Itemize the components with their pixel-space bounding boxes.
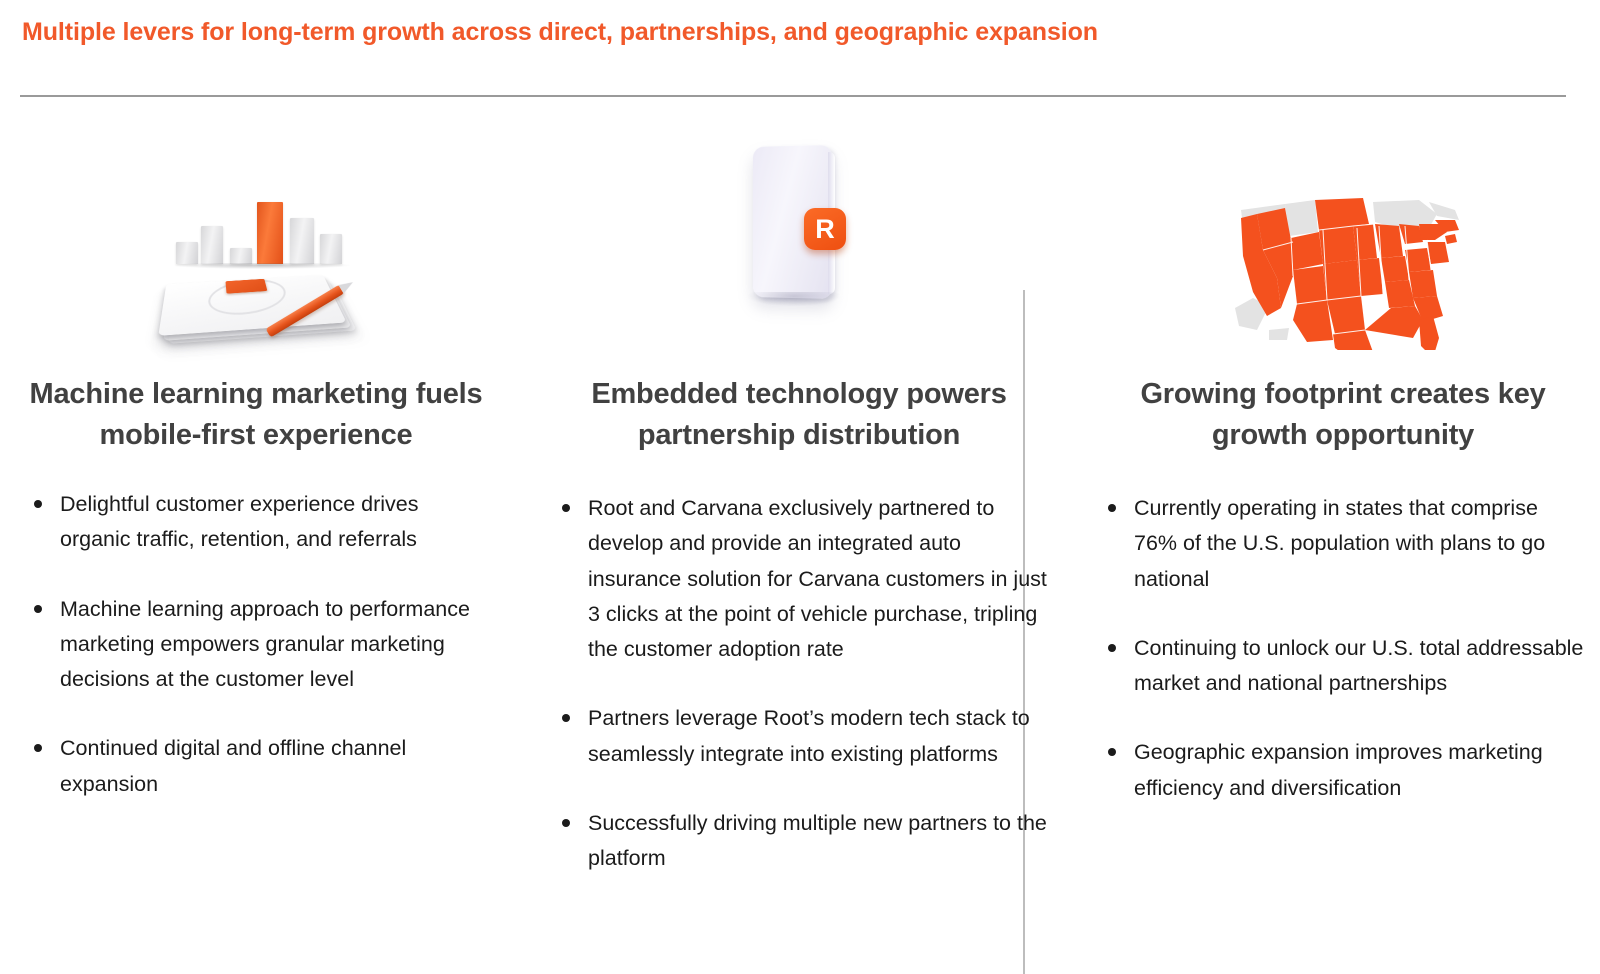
column-2-icon-area: R [512,120,1086,350]
column-machine-learning-marketing: Machine learning marketing fuels mobile-… [0,120,512,974]
column-growing-footprint: Growing footprint creates key growth opp… [1086,120,1600,974]
page-title: Multiple levers for long-term growth acr… [22,18,1098,47]
list-item: Partners leverage Root’s modern tech sta… [550,701,1060,772]
column-1-bullet-list: Delightful customer experience drives or… [0,487,512,802]
list-item: Continuing to unlock our U.S. total addr… [1096,631,1586,702]
column-2-bullet-list: Root and Carvana exclusively partnered t… [512,491,1086,876]
list-item: Continued digital and offline channel ex… [22,731,486,802]
chart-bar-2 [201,226,223,264]
column-3-icon-area [1086,120,1600,350]
slide-root: Multiple levers for long-term growth acr… [0,0,1600,974]
column-3-heading: Growing footprint creates key growth opp… [1086,374,1600,455]
chart-bar-3 [230,248,252,264]
us-map-icon [1223,180,1463,350]
column-embedded-technology: R Embedded technology powers partnership… [512,120,1086,974]
root-app-badge-icon: R [804,208,846,250]
title-divider-rule [20,95,1566,97]
columns-container: Machine learning marketing fuels mobile-… [0,120,1600,974]
smartphone-icon: R [714,140,884,350]
list-item: Machine learning approach to performance… [22,592,486,698]
list-item: Root and Carvana exclusively partnered t… [550,491,1060,667]
chart-bar-5 [290,218,314,264]
phone-shadow [748,292,840,306]
list-item: Delightful customer experience drives or… [22,487,486,558]
chart-bar-shadow [174,263,350,269]
chart-bar-highlighted [257,202,283,264]
list-item: Successfully driving multiple new partne… [550,806,1060,877]
column-1-icon-area [0,120,512,350]
column-2-heading: Embedded technology powers partnership d… [512,374,1086,455]
chart-bar-6 [320,234,342,264]
column-1-heading: Machine learning marketing fuels mobile-… [0,374,512,455]
list-item: Currently operating in states that compr… [1096,491,1586,597]
list-item: Geographic expansion improves marketing … [1096,735,1586,806]
column-3-bullet-list: Currently operating in states that compr… [1086,491,1600,806]
bar-chart-group [174,192,346,264]
chart-bar-1 [176,242,198,264]
bar-chart-notepad-icon [156,170,356,350]
